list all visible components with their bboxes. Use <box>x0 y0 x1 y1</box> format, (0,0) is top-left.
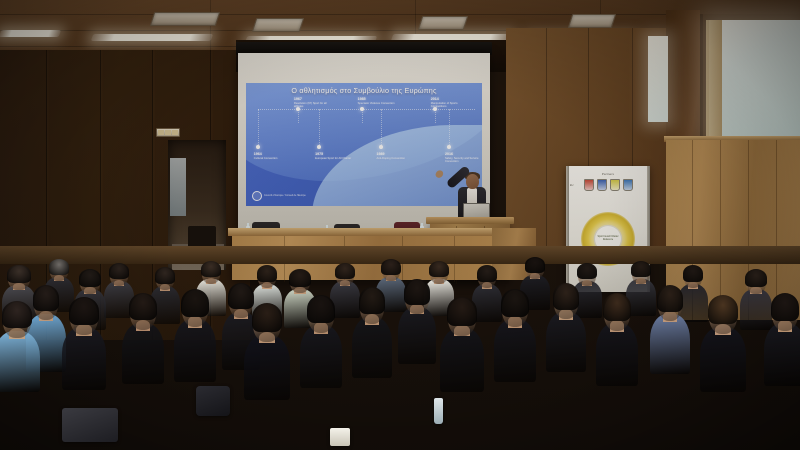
timeline-description: Anti-Doping Convention <box>377 157 417 160</box>
timeline-year: 1975 <box>315 152 323 156</box>
audience-hair <box>525 257 546 273</box>
crest-3-icon <box>610 179 620 191</box>
audience-hair <box>447 297 476 326</box>
timeline-description: Spectator Violence Convention <box>358 102 398 105</box>
audience-torso <box>398 307 436 364</box>
audience-hair <box>771 293 799 321</box>
audience-member <box>764 294 800 386</box>
audience-hair <box>501 289 529 317</box>
timeline-year: 2016 <box>445 152 453 156</box>
audience-hair <box>429 261 450 277</box>
audience-torso <box>700 327 746 392</box>
audience-torso <box>352 317 392 378</box>
frosted-window-glass <box>709 20 800 138</box>
slide-footer-logo: Council of Europe / Conseil de l'Europe <box>252 191 306 201</box>
audience-hair <box>477 265 498 282</box>
audience-hair <box>289 269 311 287</box>
audience-torso <box>764 323 800 386</box>
slide-title: Ο αθλητισμός στο Συμβούλιο της Ευρώπης <box>246 86 482 95</box>
coffee-cup <box>330 428 350 446</box>
presenter-head <box>466 174 479 189</box>
audience-member <box>546 284 586 372</box>
slide-footer-text: Council of Europe / Conseil de l'Europe <box>264 194 306 197</box>
audience-member <box>244 304 290 400</box>
audience-torso <box>122 323 164 384</box>
laptop-bag <box>62 408 118 442</box>
crest-4-icon <box>623 179 633 191</box>
audience-member <box>398 280 436 364</box>
backpack <box>196 386 230 416</box>
crest-2-icon <box>597 179 607 191</box>
council-emblem-icon <box>252 191 262 201</box>
doorway-object <box>188 226 216 248</box>
timeline-description: Safety, Security and Service Convention <box>445 157 482 164</box>
air-vent <box>252 18 305 32</box>
audience-hair <box>381 259 402 275</box>
audience-member <box>352 288 392 378</box>
audience-torso <box>596 323 638 386</box>
audience-hair <box>109 263 130 279</box>
audience-torso <box>300 325 342 388</box>
audience-member <box>174 290 216 382</box>
audience-hair <box>69 297 98 325</box>
audience-hair <box>129 293 157 320</box>
audience-hair <box>49 259 70 275</box>
timeline-tick <box>298 109 299 123</box>
panel-table-top <box>228 228 498 236</box>
audience <box>0 250 800 450</box>
window-curtain <box>706 20 722 138</box>
audience-torso <box>244 335 290 400</box>
timeline-tick <box>362 109 363 123</box>
timeline-tick <box>381 109 382 145</box>
timeline-year: 1964 <box>254 152 262 156</box>
timeline-tick <box>319 109 320 145</box>
audience-torso <box>494 319 536 382</box>
doorway-light <box>170 158 186 216</box>
timeline-axis <box>258 109 475 110</box>
audience-hair <box>657 285 684 312</box>
audience-member <box>650 286 690 374</box>
audience-hair <box>257 265 278 282</box>
audience-hair <box>683 265 704 282</box>
screenshot-root: Ο αθλητισμός στο Συμβούλιο της Ευρώπης 1… <box>0 0 800 450</box>
audience-member <box>300 296 342 388</box>
timeline-description: Cultural Convention <box>254 157 294 160</box>
timeline-year: 1985 <box>358 97 366 101</box>
air-vent <box>418 16 469 30</box>
audience-torso <box>650 314 690 374</box>
timeline-tick <box>258 109 259 145</box>
audience-torso <box>174 319 216 382</box>
audience-hair <box>7 265 30 283</box>
audience-hair <box>553 283 580 310</box>
audience-hair <box>745 269 767 287</box>
banner-headline: Partners <box>566 172 650 176</box>
audience-member <box>0 302 40 392</box>
timeline-tick <box>435 109 436 123</box>
audience-member <box>494 290 536 382</box>
audience-torso <box>546 312 586 372</box>
audience-hair <box>577 263 598 279</box>
audience-hair <box>708 295 739 324</box>
timeline-dot <box>360 107 364 111</box>
timeline-year: 2014 <box>431 97 439 101</box>
audience-torso <box>0 331 40 392</box>
ceiling-light <box>0 30 61 37</box>
crest-1-icon <box>584 179 594 191</box>
timeline-year: 1989 <box>377 152 385 156</box>
audience-member <box>122 294 164 384</box>
timeline-dot <box>256 145 260 149</box>
banner-sponsor-crests <box>566 179 650 191</box>
air-vent <box>150 12 221 26</box>
ceiling-light <box>91 34 214 41</box>
timeline-year: 1967 <box>294 97 302 101</box>
banner-crest-label: EU <box>570 184 573 187</box>
light-switch-panel[interactable] <box>156 128 180 137</box>
audience-hair <box>2 301 33 328</box>
audience-hair <box>307 295 335 323</box>
banner-logo-text: Sport Council Charter Reference <box>595 236 621 242</box>
audience-member <box>62 298 106 390</box>
audience-hair <box>201 261 222 277</box>
audience-hair <box>404 279 430 305</box>
audience-torso <box>62 327 106 390</box>
audience-member <box>700 296 746 392</box>
audience-member <box>440 298 484 392</box>
timeline-description: European Sport for All Charter <box>315 157 355 160</box>
audience-hair <box>79 269 101 287</box>
audience-hair <box>359 287 386 314</box>
audience-hair <box>335 263 356 279</box>
podium-top <box>426 217 514 224</box>
audience-torso <box>440 328 484 392</box>
timeline-description: Resolution (67) Sport for all athletes <box>294 102 334 109</box>
audience-hair <box>603 293 631 321</box>
audience-hair <box>155 267 176 284</box>
window-small <box>648 36 668 122</box>
air-vent <box>568 14 617 28</box>
audience-hair <box>252 303 283 332</box>
audience-member <box>596 294 638 386</box>
timeline-dot <box>379 145 383 149</box>
window-frame <box>700 14 800 144</box>
audience-hair <box>181 289 209 317</box>
timeline-description: Manipulation of Sports Competitions <box>431 102 471 109</box>
audience-hair <box>631 261 652 277</box>
water-bottle <box>434 398 443 424</box>
timeline-dot <box>447 145 451 149</box>
timeline-tick <box>449 109 450 145</box>
